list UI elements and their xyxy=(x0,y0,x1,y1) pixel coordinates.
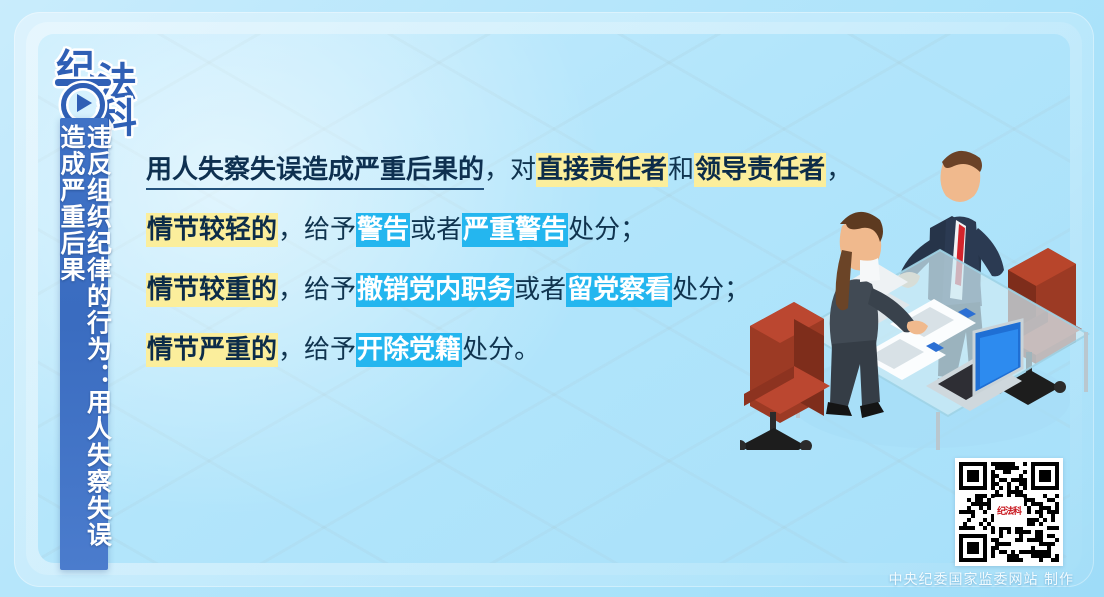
text-line-1: 用人失察失误造成严重后果的，对直接责任者和领导责任者， xyxy=(146,140,786,200)
qr-code[interactable]: 纪法科 xyxy=(955,458,1063,566)
vertical-title-text: 违反组织纪律的行为：用人失察失误造成严重后果 xyxy=(58,124,111,570)
text-segment-underline: 用人失察失误造成严重后果的 xyxy=(146,155,484,190)
text-segment-plain: 或者 xyxy=(410,215,462,245)
qr-center-logo: 纪法科 xyxy=(994,497,1024,527)
poster-canvas: 纪 法 科 违反组织纪律的行为：用人失察失误造成严重后果 用人失察失误造成严重后… xyxy=(0,0,1104,597)
text-line-3: 情节较重的，给予撤销党内职务或者留党察看处分； xyxy=(146,260,786,320)
isometric-office-illustration xyxy=(740,100,1090,450)
text-segment-plain: 给予 xyxy=(304,335,356,365)
text-segment-highlight-cyan: 撤销党内职务 xyxy=(356,273,514,307)
text-segment-plain: ， xyxy=(278,215,304,245)
text-segment-highlight-cyan: 警告 xyxy=(356,213,410,247)
text-segment-plain: 给予 xyxy=(304,215,356,245)
text-line-4: 情节严重的，给予开除党籍处分。 xyxy=(146,320,786,380)
text-segment-plain: 处分。 xyxy=(462,335,540,365)
text-segment-plain: ， xyxy=(278,275,304,305)
text-segment-plain: 对 xyxy=(510,155,536,185)
text-segment-highlight-cyan: 留党察看 xyxy=(566,273,672,307)
text-line-2: 情节较轻的，给予警告或者严重警告处分； xyxy=(146,200,786,260)
text-segment-plain: 或者 xyxy=(514,275,566,305)
vertical-title-banner: 违反组织纪律的行为：用人失察失误造成严重后果 xyxy=(60,118,108,570)
text-segment-plain: 和 xyxy=(668,155,694,185)
text-segment-highlight-yellow: 情节严重的 xyxy=(146,333,278,367)
text-segment-highlight-yellow: 直接责任者 xyxy=(536,153,668,187)
credit-text: 中央纪委国家监委网站 制作 xyxy=(889,569,1074,589)
text-segment-plain: 处分； xyxy=(568,215,646,245)
text-segment-highlight-yellow: 情节较轻的 xyxy=(146,213,278,247)
body-text-block: 用人失察失误造成严重后果的，对直接责任者和领导责任者， 情节较轻的，给予警告或者… xyxy=(146,140,786,380)
text-segment-highlight-cyan: 严重警告 xyxy=(462,213,568,247)
text-segment-plain: ， xyxy=(484,155,510,185)
text-segment-highlight-cyan: 开除党籍 xyxy=(356,333,462,367)
text-segment-highlight-yellow: 情节较重的 xyxy=(146,273,278,307)
text-segment-plain: 处分； xyxy=(672,275,750,305)
text-segment-plain: 给予 xyxy=(304,275,356,305)
play-triangle-icon xyxy=(77,94,92,112)
text-segment-plain: ， xyxy=(278,335,304,365)
